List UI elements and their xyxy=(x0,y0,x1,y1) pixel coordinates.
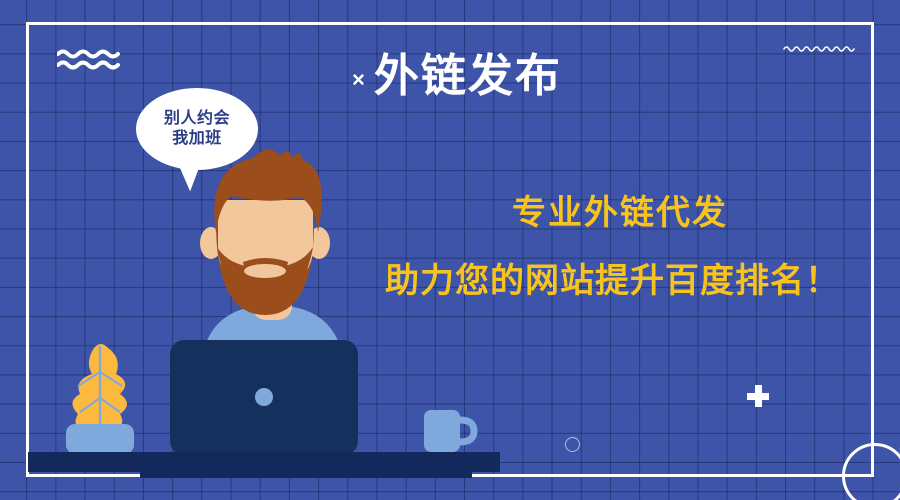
page-title: × 外链发布 xyxy=(352,52,562,99)
desk-edge xyxy=(140,472,472,478)
desk xyxy=(28,452,500,472)
potted-plant xyxy=(66,344,134,454)
tagline-secondary: 助力您的网站提升百度排名！ xyxy=(385,253,840,302)
mouth xyxy=(244,264,286,278)
promo-banner: 别人约会 我加班 × 外链发布 专业外链代发 助力您的网站提升百度排名！ xyxy=(0,0,900,500)
laptop xyxy=(170,340,358,455)
page-title-text: 外链发布 xyxy=(374,52,562,99)
speech-bubble-line-2: 我加班 xyxy=(172,129,222,149)
speech-bubble-line-1: 别人约会 xyxy=(164,109,230,129)
close-icon: × xyxy=(352,69,365,91)
speech-bubble: 别人约会 我加班 xyxy=(136,88,258,170)
coffee-mug xyxy=(424,410,474,452)
tagline-primary: 专业外链代发 xyxy=(512,185,728,234)
